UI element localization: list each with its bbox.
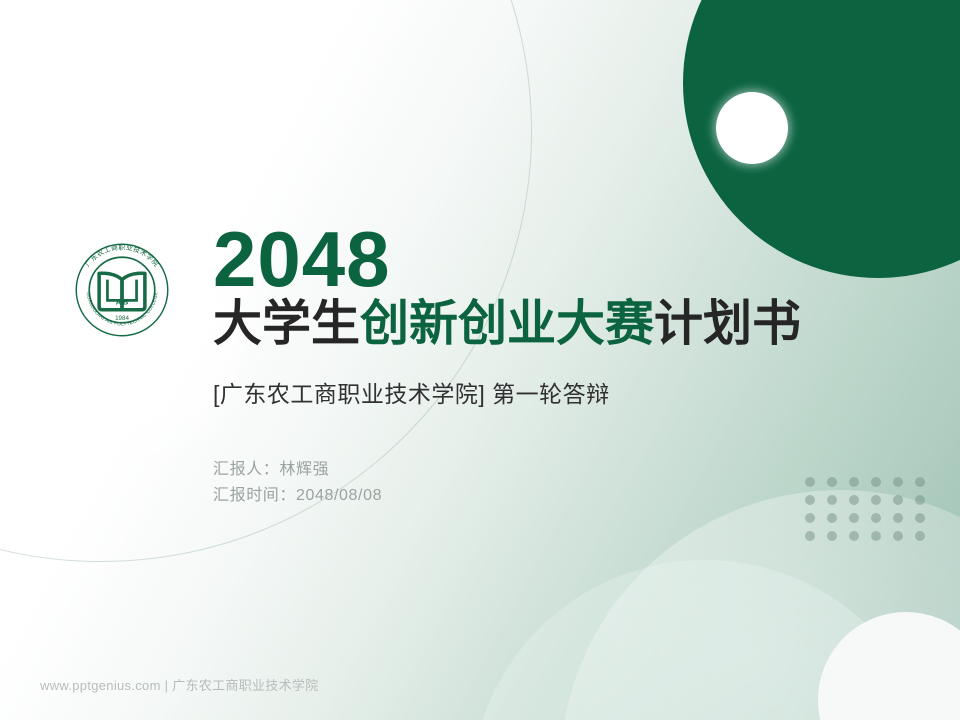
- school-emblem-icon: 广东农工商职业技术学院 GUANGDONG AIB POLYTECHNIC CO…: [70, 238, 174, 342]
- svg-text:AIB: AIB: [116, 298, 129, 307]
- presenter-info: 汇报人：林辉强 汇报时间：2048/08/08: [213, 457, 913, 510]
- white-accent-dot: [716, 92, 788, 164]
- title-part-3: 计划书: [654, 297, 801, 351]
- footer-credit: www.pptgenius.com | 广东农工商职业技术学院: [40, 675, 319, 694]
- presenter-name-line: 汇报人：林辉强: [213, 457, 913, 483]
- title-part-2: 创新创业大赛: [360, 297, 654, 351]
- subtitle: [广东农工商职业技术学院] 第一轮答辩: [213, 375, 913, 409]
- title-block: 2048 大学生创新创业大赛计划书 [广东农工商职业技术学院] 第一轮答辩 汇报…: [213, 222, 913, 510]
- school-logo: 广东农工商职业技术学院 GUANGDONG AIB POLYTECHNIC CO…: [48, 216, 196, 364]
- title-part-1: 大学生: [213, 297, 360, 351]
- presentation-date-line: 汇报时间：2048/08/08: [213, 483, 913, 509]
- presentation-slide: 广东农工商职业技术学院 GUANGDONG AIB POLYTECHNIC CO…: [0, 0, 960, 720]
- year-heading: 2048: [213, 222, 913, 297]
- svg-text:1984: 1984: [115, 315, 129, 322]
- page-title: 大学生创新创业大赛计划书: [213, 299, 913, 351]
